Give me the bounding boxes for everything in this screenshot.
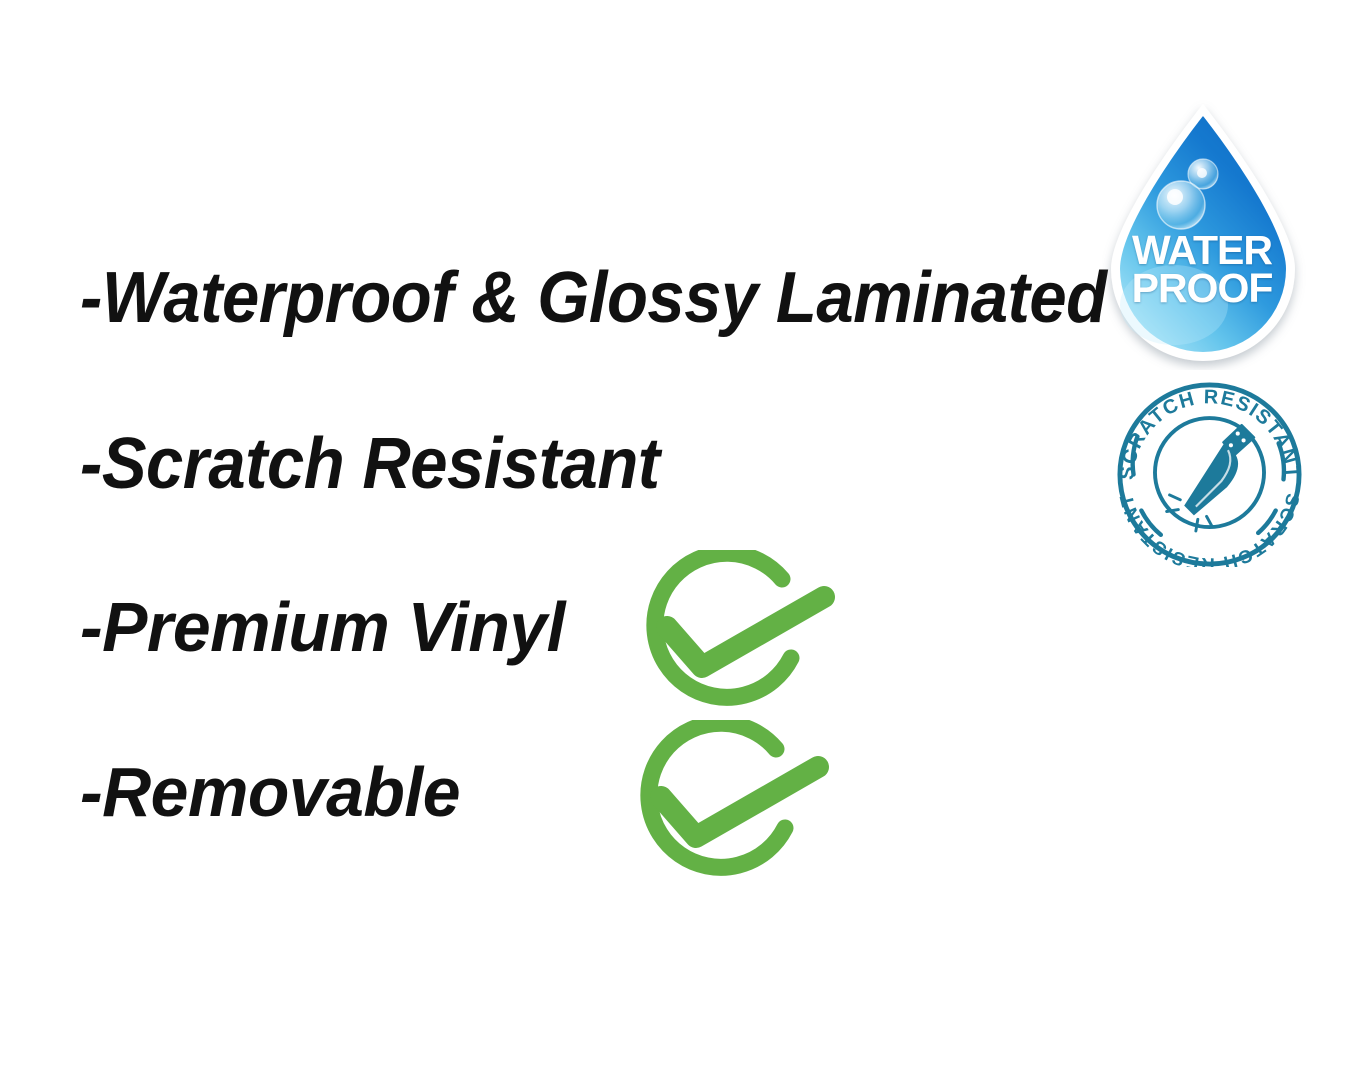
knife-rivet [1236,432,1240,436]
check-tick [661,767,818,837]
badge-text-bottom: SCRATCH RESISTANT [1115,492,1304,567]
knife-rivet [1229,443,1233,447]
scratch-resistant-svg: SCRATCH RESISTANT SCRATCH RESISTANT [1112,382,1307,567]
waterproof-drop-badge: WATER PROOF [1102,100,1312,370]
feature-list: -Waterproof & Glossy Laminated -Scratch … [0,0,1100,1080]
feature-item-premium-vinyl: -Premium Vinyl [80,592,565,662]
circle-check-icon-svg [624,720,839,890]
feature-item-waterproof-glossy-laminated: -Waterproof & Glossy Laminated [80,262,1107,334]
circle-check-icon [624,720,839,890]
drop-sheen [1120,265,1228,345]
bubble-large-highlight [1167,189,1183,205]
knife-rivet [1242,438,1246,442]
scratch-resistant-badge: SCRATCH RESISTANT SCRATCH RESISTANT [1112,382,1307,567]
page-canvas: -Waterproof & Glossy Laminated -Scratch … [0,0,1359,1080]
circle-check-icon [630,550,845,720]
bubble-small-highlight [1197,168,1207,178]
waterproof-drop-svg [1102,100,1312,370]
feature-item-removable: -Removable [80,757,460,827]
bubble-large-icon [1157,181,1205,229]
feature-item-scratch-resistant: -Scratch Resistant [80,428,660,500]
check-tick [667,597,824,667]
circle-check-icon-svg [630,550,845,720]
